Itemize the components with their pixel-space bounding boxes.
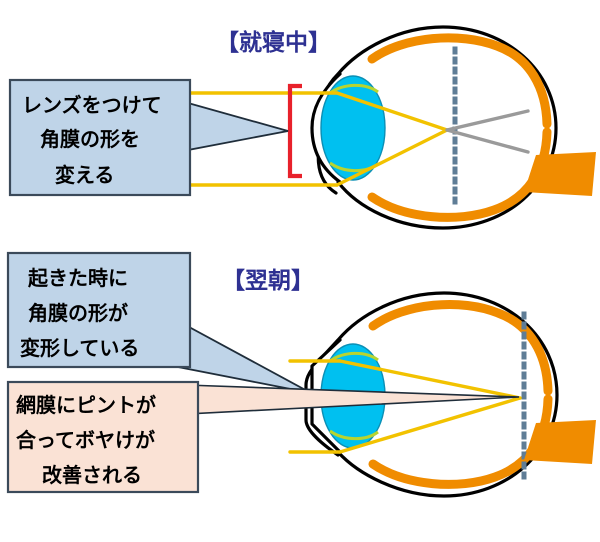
callout-focus-improved-line-2: 合ってボヤけが (16, 428, 155, 452)
cornea-bracket (290, 86, 302, 176)
callout-cornea-deformed-line-1: 起きた時に (27, 266, 128, 290)
callout-lens-reshape-tail (188, 103, 288, 150)
callout-cornea-deformed-line-2: 角膜の形が (28, 301, 128, 325)
figure-canvas: レンズをつけて 角膜の形を 変える 【就寝中】 (0, 0, 600, 542)
panel-next-morning-title: 【翌朝】 (222, 268, 314, 294)
callout-cornea-deformed-line-3: 変形している (20, 336, 139, 360)
panel-next-morning: 起きた時に 角膜の形が 変形している 網膜にピントが 合ってボヤけが 改善される… (8, 253, 596, 496)
callout-lens-reshape-line-2: 角膜の形を (40, 127, 140, 151)
panel-sleeping-title: 【就寝中】 (216, 29, 331, 56)
callout-focus-improved-line-1: 網膜にピントが (16, 393, 156, 417)
panel-sleeping: レンズをつけて 角膜の形を 変える 【就寝中】 (10, 27, 596, 228)
callout-lens-reshape-line-3: 変える (55, 163, 114, 187)
callout-lens-reshape[interactable]: レンズをつけて 角膜の形を 変える (10, 80, 288, 195)
callout-focus-improved-line-3: 改善される (42, 463, 142, 487)
callout-lens-reshape-line-1: レンズをつけて (22, 93, 162, 117)
eye-diagram-svg: レンズをつけて 角膜の形を 変える 【就寝中】 (0, 0, 600, 542)
